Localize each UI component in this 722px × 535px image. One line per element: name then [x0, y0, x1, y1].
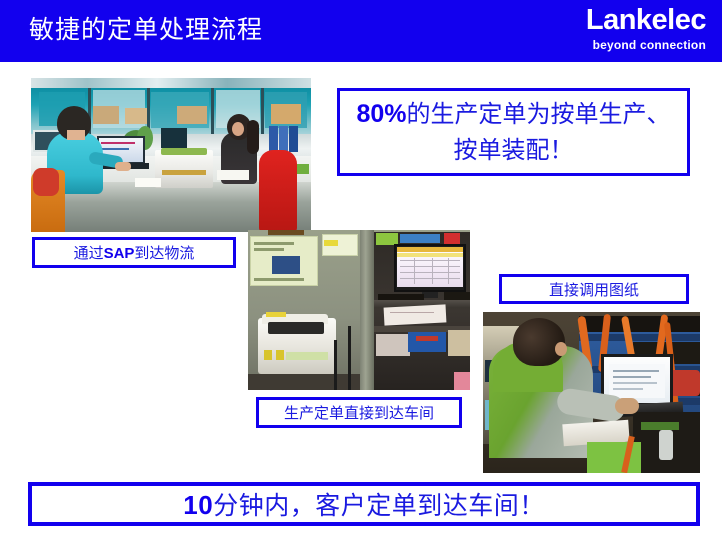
production-order-printout	[384, 304, 447, 325]
chair-backrest	[33, 168, 59, 196]
screen-header-row	[397, 253, 463, 257]
printer-indicator	[276, 350, 284, 360]
logo-wordmark: Lankelec	[586, 4, 706, 36]
banner-text: 10分钟内，客户定单到达车间！	[183, 486, 544, 522]
blue-label-tag	[400, 234, 440, 243]
slide-canvas: 敏捷的定单处理流程 Lankelec beyond connection	[0, 0, 722, 535]
page-title: 敏捷的定单处理流程	[29, 14, 263, 46]
notice-highlight	[324, 240, 338, 246]
printout-text-line	[390, 312, 434, 313]
worker-face	[232, 122, 244, 136]
printed-document	[135, 178, 161, 187]
caption-emphasis-sap: SAP	[104, 245, 135, 262]
pink-object	[454, 372, 470, 390]
worker-ponytail	[247, 120, 259, 154]
screen-grid-line	[400, 278, 460, 279]
ceiling-band	[31, 78, 311, 88]
caption-box-drawing-access: 直接调用图纸	[499, 274, 689, 304]
storage-carton	[271, 104, 301, 124]
window-mullion	[211, 88, 214, 136]
monitor-stand	[422, 292, 438, 298]
headline-callout: 80%的生产定单为按单生产、按单装配！	[337, 88, 690, 176]
printer-top-panel	[161, 148, 207, 155]
screen-grid-line	[414, 258, 415, 284]
brand-logo: Lankelec beyond connection	[586, 4, 706, 53]
headline-emphasis: 80%	[356, 100, 406, 128]
bottom-summary-banner: 10分钟内，客户定单到达车间！	[28, 482, 700, 526]
caption-text: 直接调用图纸	[549, 279, 639, 300]
storage-carton	[177, 106, 207, 124]
rack-shelf	[579, 334, 700, 341]
worker-hand	[115, 162, 131, 171]
photo-office-sap-logistics	[31, 78, 311, 232]
printer-label-tag	[266, 312, 286, 317]
cart-tray	[641, 422, 679, 430]
printer-output-tray	[268, 322, 324, 334]
carton-box	[448, 330, 470, 356]
hand-tool	[416, 336, 438, 341]
workshop-floor	[248, 374, 360, 390]
screen-content-line	[613, 376, 651, 378]
file-binder	[289, 126, 298, 152]
caption-box-sap-logistics: 通过SAP到达物流	[32, 237, 236, 268]
screen-grid-line	[448, 258, 449, 284]
screen-grid-line	[400, 266, 460, 267]
photo-workshop-terminal	[248, 230, 470, 390]
instruction-diagram	[272, 256, 300, 274]
instruction-text-line	[254, 278, 304, 281]
screen-content-line	[101, 148, 129, 150]
screen-content-line	[613, 388, 643, 390]
printer-indicator	[264, 350, 272, 360]
screen-grid-line	[432, 258, 433, 284]
banner-emphasis: 10	[183, 490, 213, 520]
printer-asset-label	[286, 352, 328, 360]
screen-grid-line	[400, 272, 460, 273]
structural-column	[360, 230, 374, 390]
banner-rest: 分钟内，客户定单到达车间！	[213, 491, 545, 520]
technician-hand	[615, 398, 639, 414]
screen-title-bar	[397, 247, 463, 252]
caption-box-order-to-shopfloor: 生产定单直接到达车间	[256, 397, 462, 428]
rack-upper-bay	[579, 316, 700, 332]
storage-carton	[93, 106, 119, 124]
caption-text: 通过SAP到达物流	[74, 242, 195, 263]
screen-content-line	[613, 382, 657, 384]
instruction-text-line	[254, 248, 284, 251]
desktop-monitor	[161, 128, 187, 148]
power-cable	[334, 340, 337, 390]
storage-carton	[125, 108, 147, 124]
shelf-documents	[376, 334, 410, 356]
photo-technician-laptop	[483, 312, 700, 473]
file-binder	[269, 126, 278, 152]
screen-content-line	[613, 370, 659, 372]
power-cable	[348, 326, 351, 390]
screen-content-line	[101, 142, 135, 144]
hand-tool	[659, 430, 673, 460]
red-office-chair	[259, 150, 297, 232]
green-bin	[587, 442, 641, 473]
printer-output-slot	[162, 170, 206, 175]
blue-parts-bin	[408, 332, 446, 352]
worker-neck	[67, 130, 85, 140]
caption-suffix: 到达物流	[134, 244, 194, 262]
wall-beam	[268, 230, 304, 235]
headline-rest: 的生产定单为按单生产、按单装配！	[407, 100, 671, 164]
window-mullion	[261, 88, 264, 136]
headline-text: 80%的生产定单为按单生产、按单装配！	[340, 96, 687, 168]
slide-header: 敏捷的定单处理流程 Lankelec beyond connection	[0, 0, 722, 62]
printed-document	[217, 170, 249, 180]
technician-ear	[555, 342, 567, 356]
caption-prefix: 通过	[74, 244, 104, 262]
instruction-text-line	[254, 242, 294, 245]
logo-tagline: beyond connection	[586, 37, 706, 53]
screen-grid-line	[400, 260, 460, 261]
caption-text: 生产定单直接到达车间	[284, 402, 434, 423]
file-binder	[279, 126, 288, 152]
office-printer	[155, 150, 213, 188]
